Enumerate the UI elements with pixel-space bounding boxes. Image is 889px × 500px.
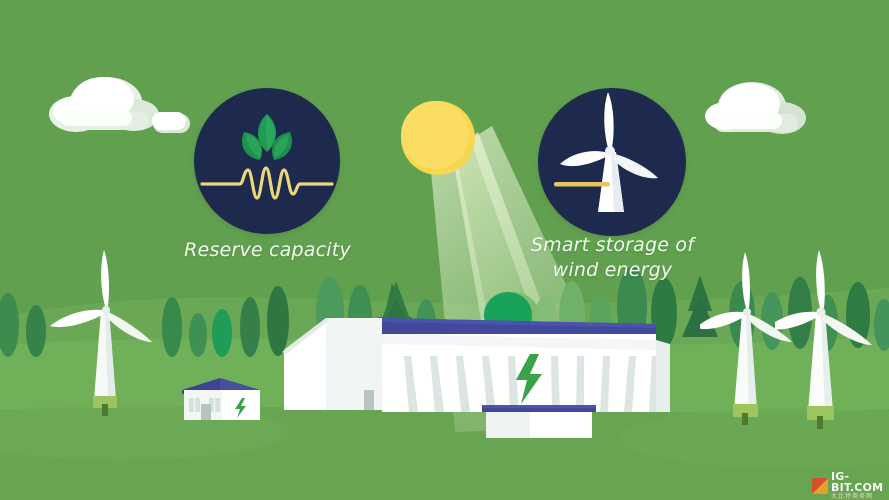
waveform-line xyxy=(202,168,332,198)
badge-label-smart-storage: Smart storage of wind energy xyxy=(515,233,710,283)
watermark-logo-icon xyxy=(812,478,828,494)
watermark-main-text: IG-BIT.COM xyxy=(831,471,889,493)
wind-turbine-right-front xyxy=(775,250,889,430)
wind-turbine-left xyxy=(48,248,168,423)
sun xyxy=(398,98,478,178)
badge-smart-storage[interactable] xyxy=(538,88,686,236)
badge-label-reserve-capacity: Reserve capacity xyxy=(160,238,375,263)
illustration-canvas: Reserve capacity Smart storage of wind e… xyxy=(0,0,889,500)
wind-turbine-icon xyxy=(538,88,686,236)
storage-bar-icon xyxy=(554,182,610,187)
cloud-small-left xyxy=(152,111,192,135)
cloud-large-left xyxy=(46,72,166,134)
watermark-texts: IG-BIT.COM 大比特商务网 xyxy=(831,471,889,500)
annex-building xyxy=(478,400,600,440)
small-house xyxy=(174,374,266,422)
watermark-sub-text: 大比特商务网 xyxy=(831,494,889,500)
badge-reserve-capacity[interactable] xyxy=(194,88,340,234)
leaf-group xyxy=(242,114,292,160)
leaves-with-waveform-icon xyxy=(194,88,340,234)
ig-bit-watermark: IG-BIT.COM 大比特商务网 xyxy=(812,471,889,500)
cloud-large-right xyxy=(700,78,810,138)
